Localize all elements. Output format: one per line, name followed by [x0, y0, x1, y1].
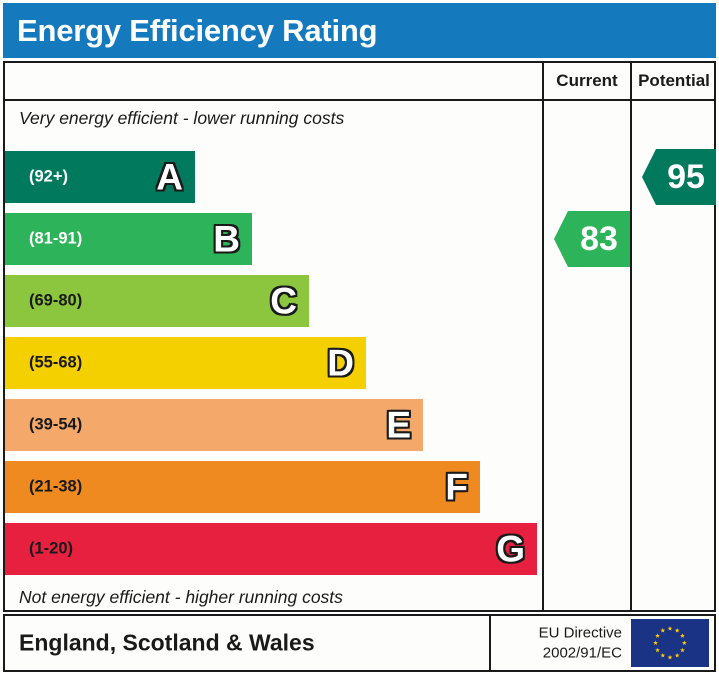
region-label: England, Scotland & Wales: [19, 630, 315, 657]
eu-star: [655, 648, 660, 653]
chart-body: Current Potential Very energy efficient …: [3, 61, 716, 612]
potential-column-divider: [630, 63, 632, 610]
eu-directive-line1: EU Directive: [539, 624, 622, 644]
caption-inefficient: Not energy efficient - higher running co…: [19, 587, 343, 608]
band-letter-f: F: [445, 469, 468, 506]
chart-title-bar: Energy Efficiency Rating: [3, 3, 716, 58]
current-column-divider: [542, 63, 544, 610]
band-range-d: (55-68): [29, 354, 82, 373]
eu-star: [675, 653, 680, 658]
eu-star: [675, 628, 680, 633]
band-letter-b: B: [213, 221, 240, 258]
current-rating-value: 83: [580, 220, 618, 259]
band-range-e: (39-54): [29, 416, 82, 435]
band-letter-g: G: [496, 531, 525, 568]
band-range-c: (69-80): [29, 292, 82, 311]
column-header-current: Current: [544, 63, 630, 99]
eu-star: [680, 633, 685, 638]
eu-star: [682, 641, 687, 646]
column-header-potential: Potential: [632, 63, 716, 99]
page-title: Energy Efficiency Rating: [17, 13, 377, 49]
band-row-d: (55-68)D: [5, 337, 366, 389]
band-letter-c: C: [270, 283, 297, 320]
eu-star: [668, 655, 673, 660]
header-divider: [5, 99, 714, 101]
eu-star: [668, 626, 673, 631]
band-row-e: (39-54)E: [5, 399, 423, 451]
eu-star: [653, 641, 658, 646]
band-letter-d: D: [327, 345, 354, 382]
energy-efficiency-rating-chart: Energy Efficiency Rating Current Potenti…: [0, 0, 719, 675]
band-row-c: (69-80)C: [5, 275, 309, 327]
current-rating-badge: 83: [554, 211, 630, 267]
eu-star: [660, 653, 665, 658]
band-row-a: (92+)A: [5, 151, 195, 203]
band-letter-e: E: [386, 407, 411, 444]
chart-footer: England, Scotland & Wales EU Directive 2…: [3, 614, 716, 672]
eu-flag-stars: [631, 619, 709, 667]
caption-efficient: Very energy efficient - lower running co…: [19, 108, 344, 129]
band-row-f: (21-38)F: [5, 461, 480, 513]
band-row-g: (1-20)G: [5, 523, 537, 575]
band-range-f: (21-38): [29, 478, 82, 497]
eu-directive-line2: 2002/91/EC: [539, 643, 622, 663]
eu-directive-label: EU Directive 2002/91/EC: [539, 624, 622, 663]
eu-flag-icon: [630, 618, 710, 668]
eu-star: [655, 633, 660, 638]
eu-star: [660, 628, 665, 633]
potential-rating-value: 95: [667, 158, 705, 197]
footer-divider: [489, 616, 491, 670]
eu-star: [680, 648, 685, 653]
potential-rating-badge: 95: [642, 149, 716, 205]
band-range-b: (81-91): [29, 230, 82, 249]
band-row-b: (81-91)B: [5, 213, 252, 265]
band-range-a: (92+): [29, 168, 68, 187]
band-range-g: (1-20): [29, 540, 73, 559]
band-letter-a: A: [156, 159, 183, 196]
